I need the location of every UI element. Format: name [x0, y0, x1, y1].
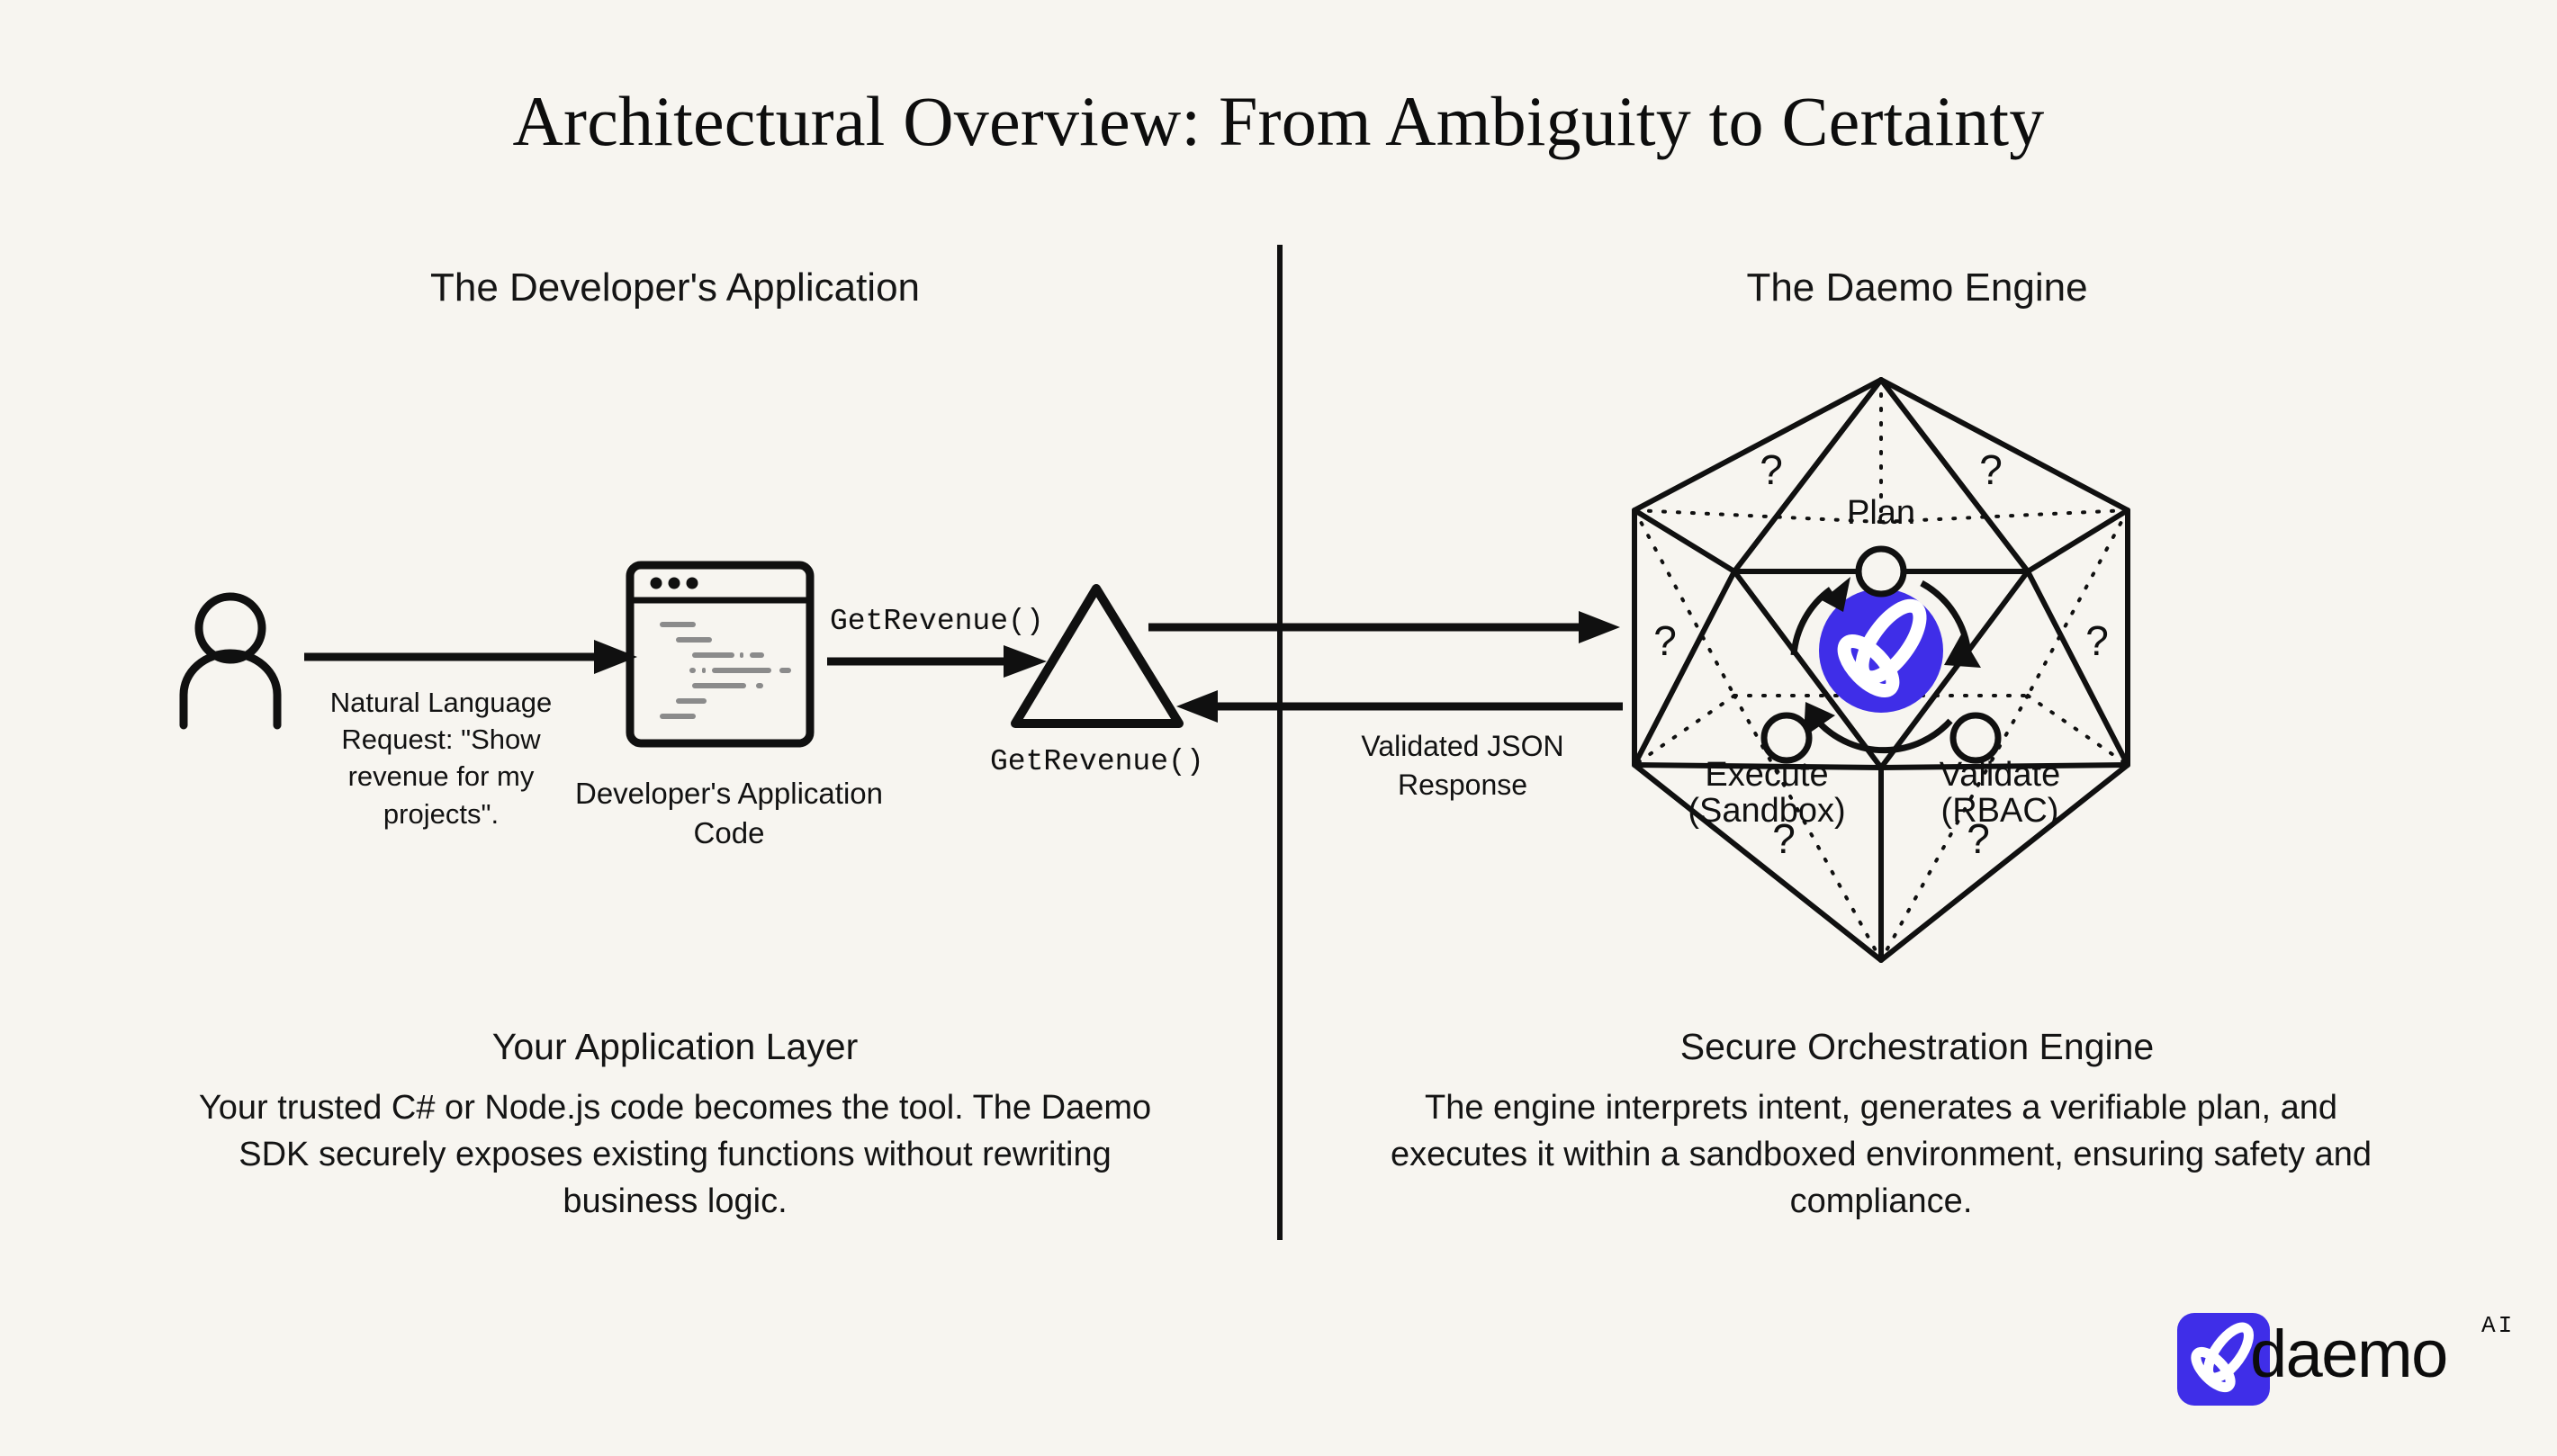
question-mark-icon: ? [2085, 617, 2109, 664]
cycle-node-sublabel-validate: (RBAC) [1941, 792, 2059, 830]
cycle-node-execute[interactable] [1764, 715, 1809, 760]
arrow-user-to-app [297, 630, 639, 684]
arrow-response-to-tool [1175, 684, 1625, 729]
daemo-engine-icosahedron: ? ? ? ? ? ? Plan [1611, 355, 2151, 985]
page-title: Architectural Overview: From Ambiguity t… [0, 81, 2557, 162]
cycle-node-label-validate: Validate [1940, 756, 2061, 794]
left-column-header: The Developer's Application [162, 265, 1188, 310]
developer-code-label: Developer's Application Code [540, 774, 918, 853]
diagram-canvas: Architectural Overview: From Ambiguity t… [0, 0, 2557, 1456]
brand-suffix: AI [2481, 1312, 2515, 1339]
column-divider [1260, 234, 1300, 1251]
question-mark-icon: ? [1979, 446, 2003, 493]
right-column-subtitle: Secure Orchestration Engine [1377, 1026, 2457, 1068]
right-column-body: The engine interprets intent, generates … [1391, 1084, 2372, 1225]
cycle-node-label-plan: Plan [1847, 494, 1915, 532]
cycle-node-plan[interactable] [1859, 549, 1904, 594]
left-column-subtitle: Your Application Layer [162, 1026, 1188, 1068]
user-icon [171, 585, 306, 738]
cycle-node-label-execute: Execute [1705, 756, 1828, 794]
brand-wordmark: daemo [2250, 1316, 2447, 1392]
right-column-header: The Daemo Engine [1377, 265, 2457, 310]
arrow-request-to-engine [1145, 605, 1622, 650]
cycle-node-validate[interactable] [1953, 715, 1998, 760]
tool-triangle-icon [1008, 576, 1188, 738]
developer-code-window-icon [621, 558, 828, 756]
question-mark-icon: ? [1760, 446, 1783, 493]
question-mark-icon: ? [1653, 617, 1677, 664]
tool-name-label: GetRevenue() [990, 745, 1204, 778]
cycle-node-sublabel-execute: (Sandbox) [1688, 792, 1845, 830]
left-column-body: Your trusted C# or Node.js code becomes … [180, 1084, 1170, 1225]
validated-json-response-label: Validated JSON Response [1314, 727, 1611, 804]
